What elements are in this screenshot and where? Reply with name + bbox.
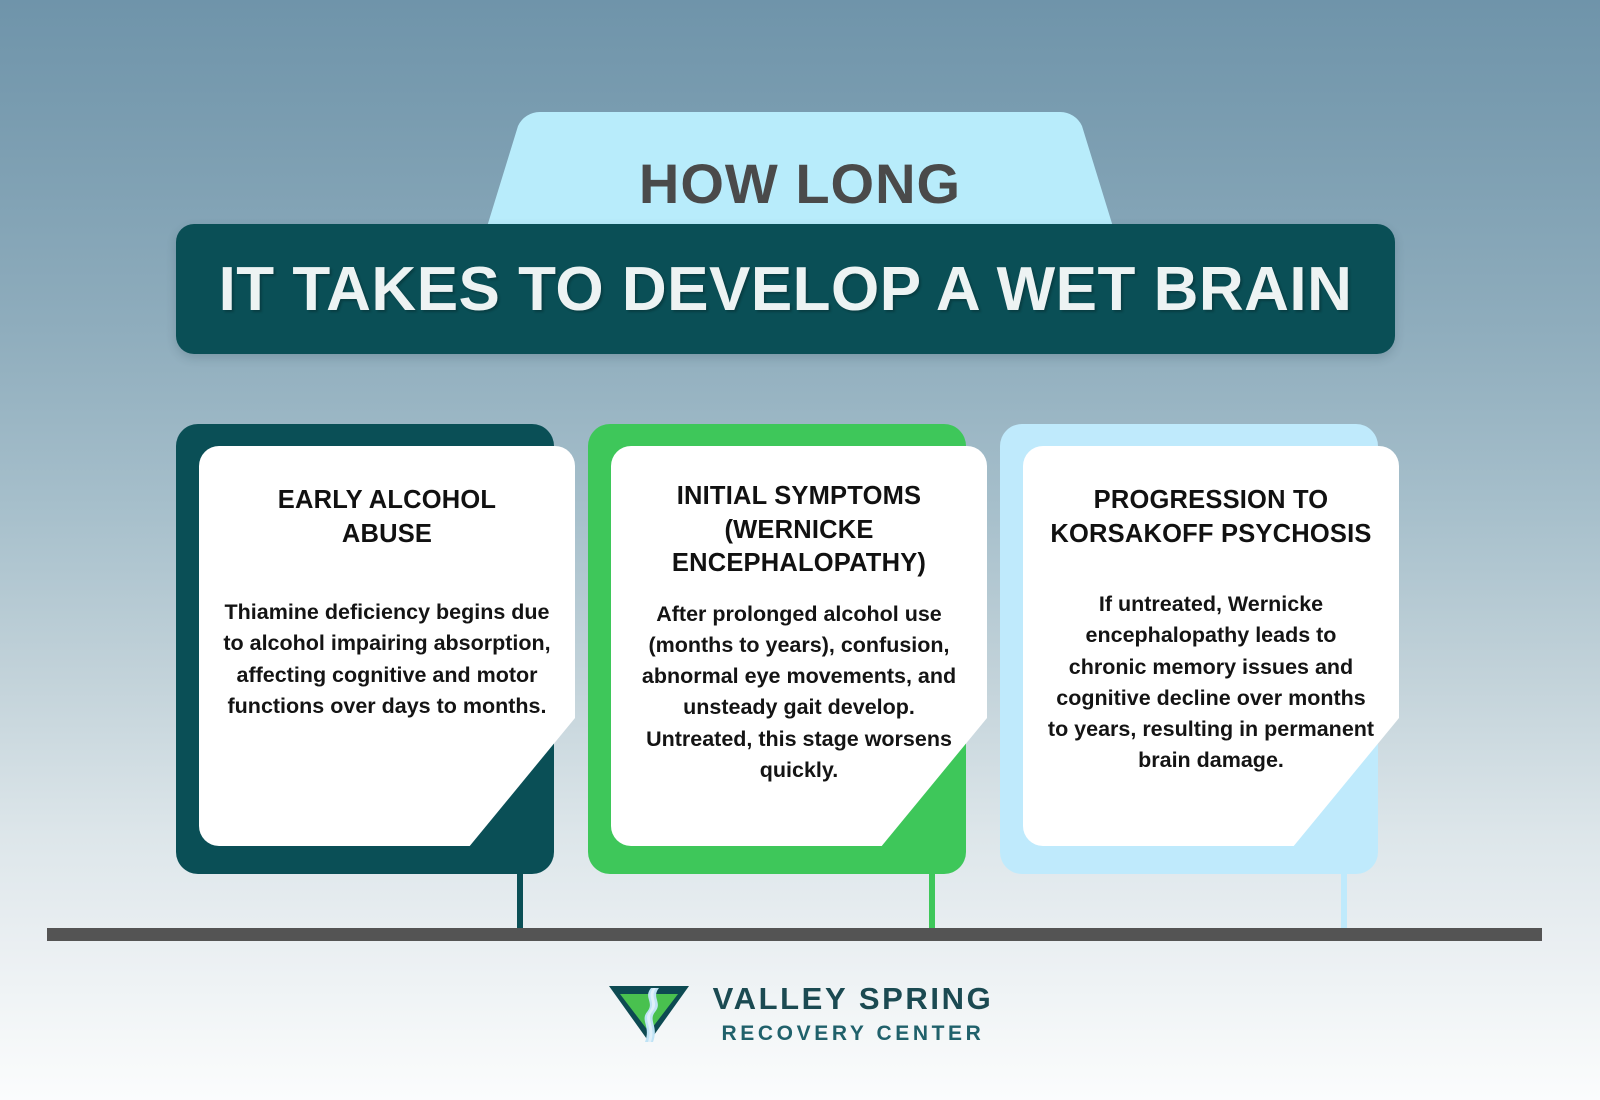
card-content-panel: EARLY ALCOHOL ABUSE Thiamine deficiency …	[199, 446, 575, 846]
card-title: PROGRESSION TO KORSAKOFF PSYCHOSIS	[1039, 472, 1383, 551]
stage-card-initial-symptoms[interactable]: INITIAL SYMPTOMS (WERNICKE ENCEPHALOPATH…	[588, 424, 966, 874]
stage-card-korsakoff-psychosis[interactable]: PROGRESSION TO KORSAKOFF PSYCHOSIS If un…	[1000, 424, 1378, 874]
footer-branding: VALLEY SPRING RECOVERY CENTER	[0, 968, 1600, 1058]
header-tab: HOW LONG	[486, 112, 1114, 230]
brand-tagline: RECOVERY CENTER	[722, 1023, 985, 1044]
header-title-bar: IT TAKES TO DEVELOP A WET BRAIN	[176, 224, 1395, 354]
brand-name: VALLEY SPRING	[713, 983, 994, 1014]
stage-card-early-alcohol-abuse[interactable]: EARLY ALCOHOL ABUSE Thiamine deficiency …	[176, 424, 554, 874]
card-body-text: Thiamine deficiency begins due to alcoho…	[215, 559, 559, 722]
page-title: IT TAKES TO DEVELOP A WET BRAIN	[219, 254, 1353, 325]
infographic-canvas: HOW LONG IT TAKES TO DEVELOP A WET BRAIN…	[0, 0, 1600, 1100]
timeline-connector-1	[517, 872, 523, 936]
timeline-connector-2	[929, 872, 935, 936]
card-title: INITIAL SYMPTOMS (WERNICKE ENCEPHALOPATH…	[627, 472, 971, 581]
stage-cards-row: EARLY ALCOHOL ABUSE Thiamine deficiency …	[0, 424, 1600, 884]
valley-spring-logo-icon	[607, 982, 691, 1044]
card-body-text: After prolonged alcohol use (months to y…	[627, 589, 971, 786]
timeline-connector-3	[1341, 872, 1347, 936]
brand-wordmark: VALLEY SPRING RECOVERY CENTER	[713, 983, 994, 1044]
header-tab-label: HOW LONG	[486, 112, 1114, 230]
card-content-panel: INITIAL SYMPTOMS (WERNICKE ENCEPHALOPATH…	[611, 446, 987, 846]
card-title: EARLY ALCOHOL ABUSE	[215, 472, 559, 551]
card-content-panel: PROGRESSION TO KORSAKOFF PSYCHOSIS If un…	[1023, 446, 1399, 846]
timeline-baseline	[47, 928, 1542, 941]
card-body-text: If untreated, Wernicke encephalopathy le…	[1039, 559, 1383, 776]
